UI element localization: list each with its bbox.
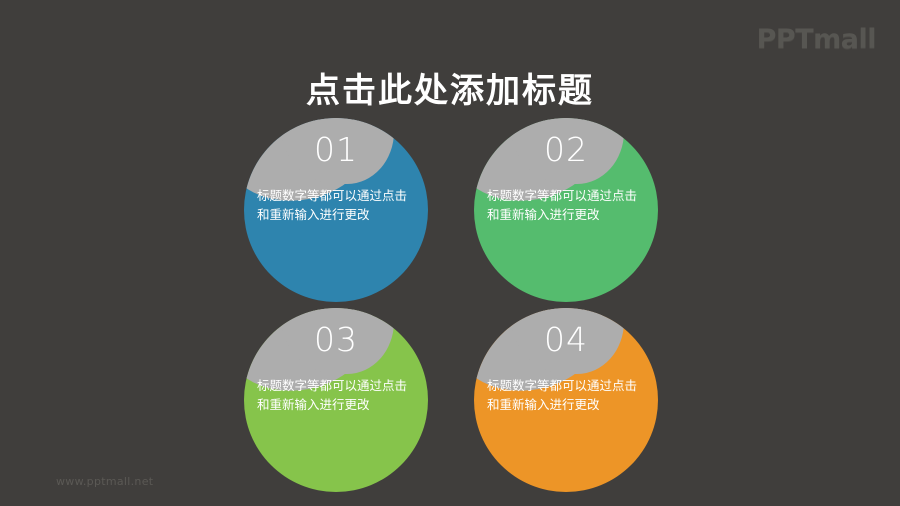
circle-number: 01 xyxy=(244,133,428,166)
circle-item-03[interactable]: 03 标题数字等都可以通过点击和重新输入进行更改 xyxy=(244,308,428,492)
circle-item-04[interactable]: 04 标题数字等都可以通过点击和重新输入进行更改 xyxy=(474,308,658,492)
pptmall-logo: PPTmall xyxy=(757,24,876,55)
footer-url: www.pptmall.net xyxy=(56,475,153,488)
circle-number: 04 xyxy=(474,323,658,356)
circle-body-text: 标题数字等都可以通过点击和重新输入进行更改 xyxy=(257,376,417,415)
circle-grid: 01 标题数字等都可以通过点击和重新输入进行更改 02 标题数字等都可以通过点击… xyxy=(244,118,658,492)
circle-body-text: 标题数字等都可以通过点击和重新输入进行更改 xyxy=(487,186,647,225)
circle-body-text: 标题数字等都可以通过点击和重新输入进行更改 xyxy=(257,186,417,225)
page-title: 点击此处添加标题 xyxy=(0,63,900,112)
circle-item-01[interactable]: 01 标题数字等都可以通过点击和重新输入进行更改 xyxy=(244,118,428,302)
slide-canvas: PPTmall 点击此处添加标题 01 标题数字等都可以通过点击和重新输入进行更… xyxy=(0,0,900,506)
circle-number: 03 xyxy=(244,323,428,356)
circle-body-text: 标题数字等都可以通过点击和重新输入进行更改 xyxy=(487,376,647,415)
circle-number: 02 xyxy=(474,133,658,166)
circle-item-02[interactable]: 02 标题数字等都可以通过点击和重新输入进行更改 xyxy=(474,118,658,302)
